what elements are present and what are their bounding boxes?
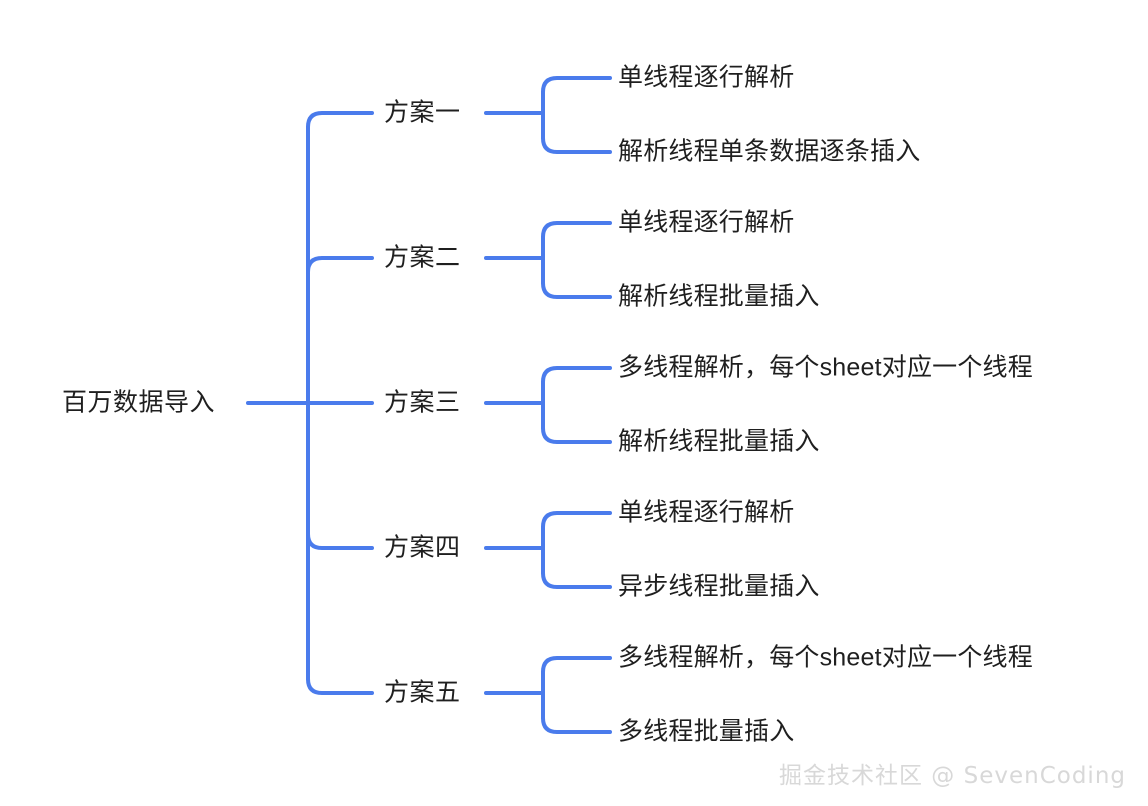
connector-path [543, 223, 610, 237]
branch-node-label[interactable]: 方案一 [384, 101, 461, 126]
leaf-node-label[interactable]: 异步线程批量插入 [618, 575, 820, 600]
connector-path [543, 513, 610, 527]
connector-path [543, 283, 610, 297]
connector-path [308, 679, 372, 693]
connector-path [308, 258, 372, 272]
branch-node-label[interactable]: 方案四 [384, 536, 461, 561]
leaf-node-label[interactable]: 单线程逐行解析 [618, 211, 794, 236]
leaf-node-label[interactable]: 多线程解析，每个sheet对应一个线程 [618, 356, 1033, 381]
leaf-node-label[interactable]: 单线程逐行解析 [618, 66, 794, 91]
branch-node-label[interactable]: 方案三 [384, 391, 461, 416]
connector-path [543, 718, 610, 732]
connector-path [543, 573, 610, 587]
leaf-node-label[interactable]: 多线程解析，每个sheet对应一个线程 [618, 646, 1033, 671]
leaf-node-label[interactable]: 解析线程批量插入 [618, 430, 820, 455]
branch-node-label[interactable]: 方案二 [384, 246, 461, 271]
connector-path [543, 78, 610, 92]
connector-path [308, 534, 372, 548]
leaf-node-label[interactable]: 解析线程批量插入 [618, 285, 820, 310]
mindmap-canvas: 百万数据导入 方案一方案二方案三方案四方案五 单线程逐行解析解析线程单条数据逐条… [0, 0, 1148, 806]
leaf-node-label[interactable]: 多线程批量插入 [618, 720, 794, 745]
branch-node-label[interactable]: 方案五 [384, 681, 461, 706]
connector-path [543, 428, 610, 442]
connector-path [543, 138, 610, 152]
connector-path [308, 113, 372, 127]
connector-path [543, 658, 610, 672]
connector-path [543, 368, 610, 382]
watermark: 掘金技术社区 @ SevenCoding [779, 756, 1126, 790]
root-node-label[interactable]: 百万数据导入 [62, 391, 215, 416]
leaf-node-label[interactable]: 单线程逐行解析 [618, 501, 794, 526]
leaf-node-label[interactable]: 解析线程单条数据逐条插入 [618, 140, 920, 165]
